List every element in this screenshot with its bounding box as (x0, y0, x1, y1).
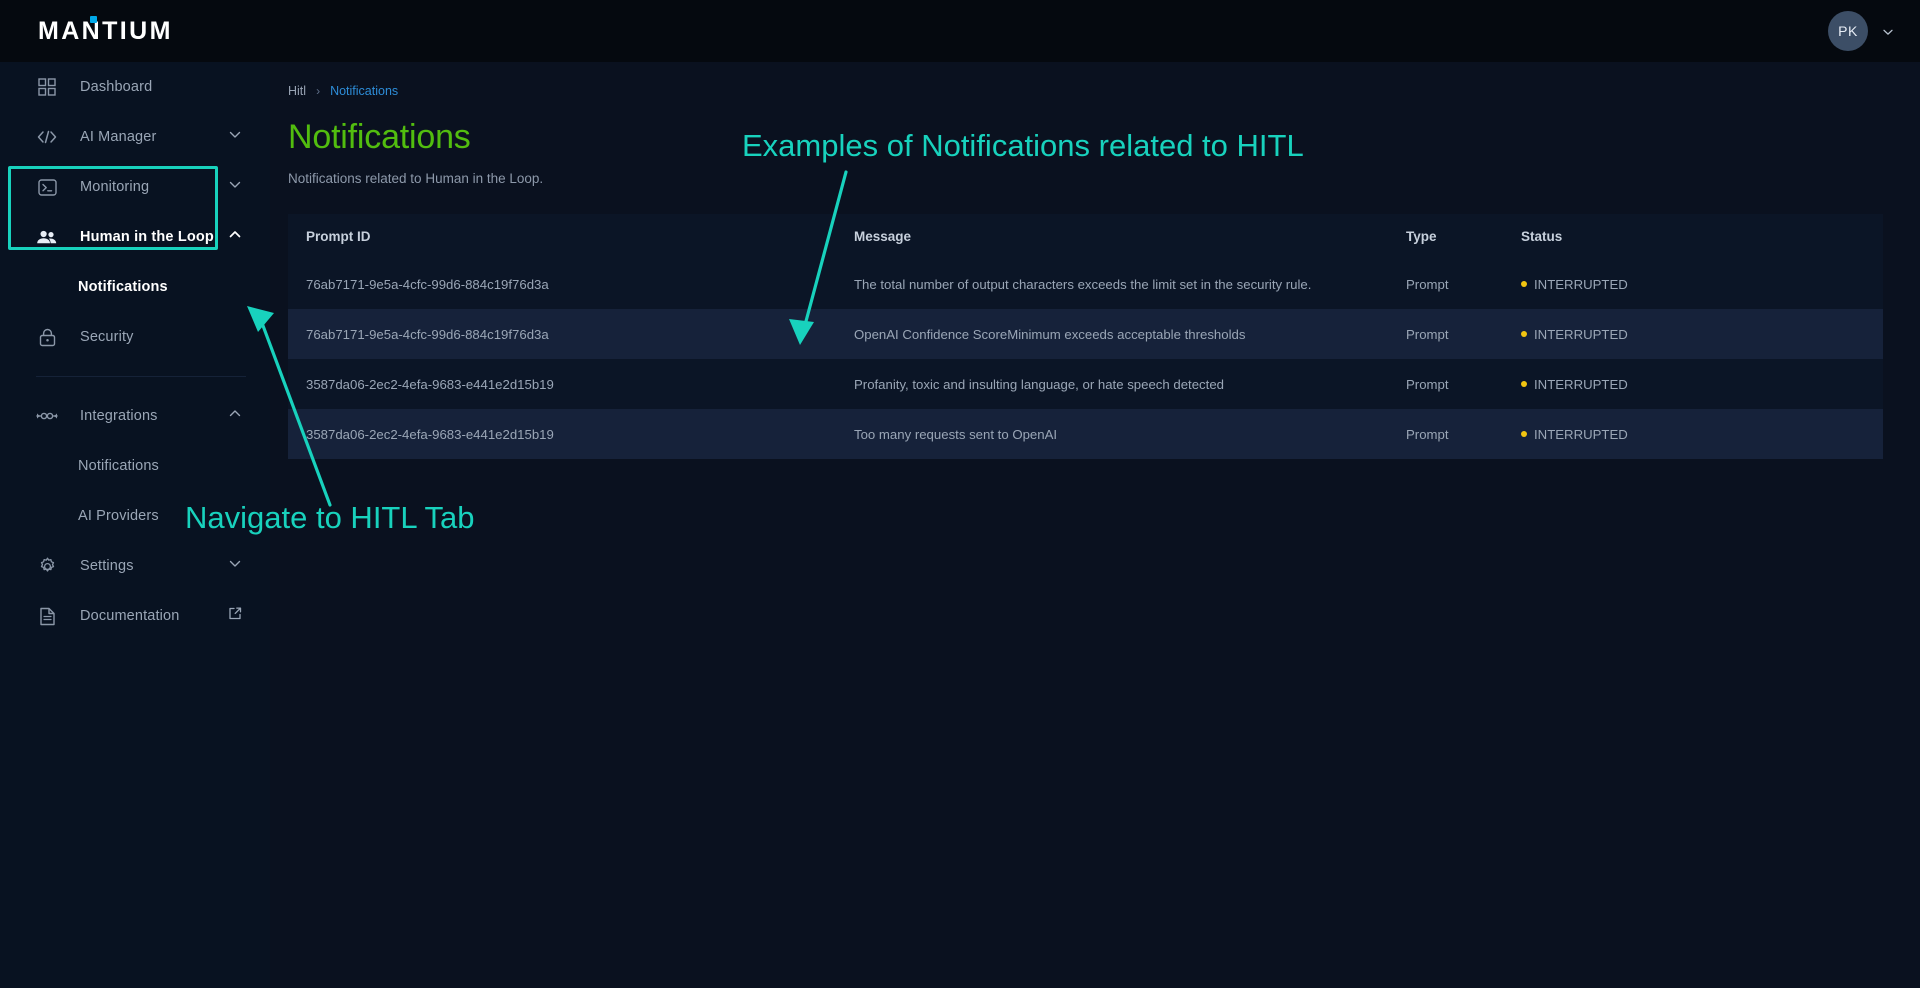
avatar[interactable]: PK (1828, 11, 1868, 51)
sidebar-item-ai-manager[interactable]: AI Manager (0, 112, 270, 162)
table-row[interactable]: 76ab7171-9e5a-4cfc-99d6-884c19f76d3a The… (288, 259, 1883, 309)
table-header-row: Prompt ID Message Type Status (288, 214, 1883, 259)
cell-type: Prompt (1388, 327, 1503, 342)
sidebar-subitem-hitl-notifications[interactable]: Notifications (0, 262, 270, 312)
sidebar-item-label: Monitoring (80, 179, 149, 195)
sidebar-item-integrations[interactable]: Integrations (0, 391, 270, 441)
user-menu[interactable]: PK (1828, 11, 1894, 51)
cell-prompt-id: 76ab7171-9e5a-4cfc-99d6-884c19f76d3a (288, 327, 836, 342)
cell-message: Profanity, toxic and insulting language,… (836, 377, 1388, 392)
status-badge: INTERRUPTED (1534, 377, 1628, 392)
breadcrumb-current[interactable]: Notifications (330, 84, 398, 98)
status-badge: INTERRUPTED (1534, 427, 1628, 442)
gear-icon (36, 555, 58, 577)
brand-logo[interactable]: MANTIUM (38, 17, 173, 46)
sidebar-item-label: Human in the Loop (80, 229, 214, 245)
table-row[interactable]: 3587da06-2ec2-4efa-9683-e441e2d15b19 Pro… (288, 359, 1883, 409)
column-header-status[interactable]: Status (1503, 229, 1763, 244)
sidebar-subitem-label: Notifications (78, 279, 168, 295)
status-dot-icon (1521, 281, 1527, 287)
sidebar-item-label: Security (80, 329, 134, 345)
status-dot-icon (1521, 381, 1527, 387)
grid-icon (36, 76, 58, 98)
cell-status: INTERRUPTED (1503, 427, 1763, 442)
code-icon (36, 126, 58, 148)
chevron-up-icon[interactable] (228, 228, 242, 247)
app-root: MANTIUM PK Dashboard (0, 0, 1920, 988)
table-row[interactable]: 76ab7171-9e5a-4cfc-99d6-884c19f76d3a Ope… (288, 309, 1883, 359)
breadcrumb: Hitl › Notifications (288, 84, 1920, 98)
sidebar-divider (36, 376, 246, 377)
people-icon (36, 226, 58, 248)
breadcrumb-root[interactable]: Hitl (288, 84, 306, 98)
sidebar-subitem-integrations-notifications[interactable]: Notifications (0, 441, 270, 491)
chevron-down-icon[interactable] (228, 557, 242, 576)
chevron-down-icon[interactable] (228, 128, 242, 147)
annotation-callout-sidebar: Navigate to HITL Tab (185, 500, 475, 536)
brand-accent-dot (90, 16, 97, 23)
sidebar-item-label: Dashboard (80, 79, 152, 95)
integration-icon (36, 405, 58, 427)
sidebar-subitem-label: Notifications (78, 458, 159, 474)
cell-type: Prompt (1388, 427, 1503, 442)
sidebar-item-label: Documentation (80, 608, 179, 624)
sidebar-item-documentation[interactable]: Documentation (0, 591, 270, 641)
column-header-type[interactable]: Type (1388, 229, 1503, 244)
column-header-prompt-id[interactable]: Prompt ID (288, 229, 836, 244)
terminal-icon (36, 176, 58, 198)
sidebar-item-label: Integrations (80, 408, 158, 424)
cell-prompt-id: 76ab7171-9e5a-4cfc-99d6-884c19f76d3a (288, 277, 836, 292)
breadcrumb-separator-icon: › (316, 84, 320, 98)
cell-type: Prompt (1388, 377, 1503, 392)
table-row[interactable]: 3587da06-2ec2-4efa-9683-e441e2d15b19 Too… (288, 409, 1883, 459)
cell-type: Prompt (1388, 277, 1503, 292)
sidebar-item-label: Settings (80, 558, 134, 574)
cell-message: The total number of output characters ex… (836, 277, 1388, 292)
status-badge: INTERRUPTED (1534, 277, 1628, 292)
sidebar-item-human-in-the-loop[interactable]: Human in the Loop (0, 212, 270, 262)
sidebar-item-dashboard[interactable]: Dashboard (0, 62, 270, 112)
cell-prompt-id: 3587da06-2ec2-4efa-9683-e441e2d15b19 (288, 377, 836, 392)
top-bar: MANTIUM PK (0, 0, 1920, 62)
cell-status: INTERRUPTED (1503, 277, 1763, 292)
cell-prompt-id: 3587da06-2ec2-4efa-9683-e441e2d15b19 (288, 427, 836, 442)
cell-status: INTERRUPTED (1503, 377, 1763, 392)
cell-message: OpenAI Confidence ScoreMinimum exceeds a… (836, 327, 1388, 342)
status-dot-icon (1521, 331, 1527, 337)
sidebar-item-settings[interactable]: Settings (0, 541, 270, 591)
sidebar-subitem-label: AI Providers (78, 508, 159, 524)
sidebar-item-monitoring[interactable]: Monitoring (0, 162, 270, 212)
page-subtitle: Notifications related to Human in the Lo… (288, 171, 1920, 186)
document-icon (36, 605, 58, 627)
sidebar-item-security[interactable]: Security (0, 312, 270, 362)
chevron-up-icon[interactable] (228, 407, 242, 426)
sidebar-item-label: AI Manager (80, 129, 156, 145)
annotation-callout-table: Examples of Notifications related to HIT… (742, 128, 1304, 164)
brand-logo-text: MANTIUM (38, 17, 173, 46)
status-badge: INTERRUPTED (1534, 327, 1628, 342)
cell-message: Too many requests sent to OpenAI (836, 427, 1388, 442)
status-dot-icon (1521, 431, 1527, 437)
chevron-down-icon[interactable] (1882, 25, 1894, 37)
cell-status: INTERRUPTED (1503, 327, 1763, 342)
external-link-icon[interactable] (228, 607, 242, 626)
chevron-down-icon[interactable] (228, 178, 242, 197)
lock-icon (36, 326, 58, 348)
notifications-table: Prompt ID Message Type Status 76ab7171-9… (288, 214, 1883, 459)
main-content: Hitl › Notifications Notifications Notif… (270, 62, 1920, 988)
column-header-message[interactable]: Message (836, 229, 1388, 244)
